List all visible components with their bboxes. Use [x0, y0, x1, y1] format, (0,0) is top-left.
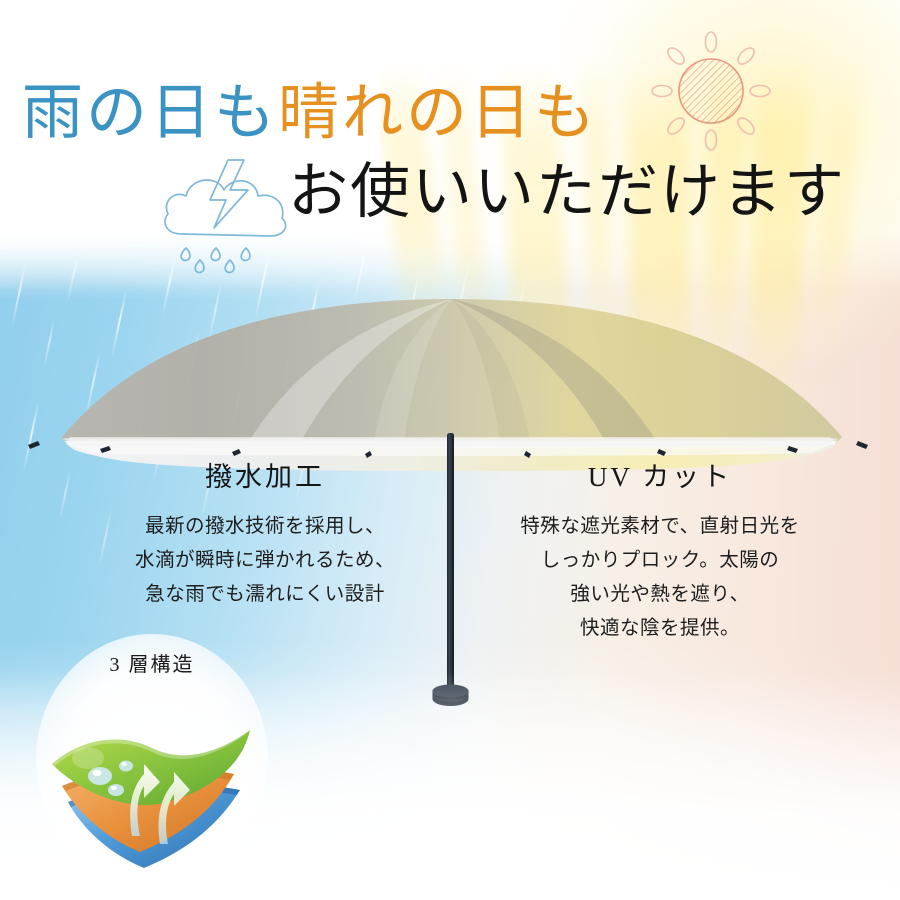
headline-sun-text: 晴れの日も	[278, 80, 598, 147]
feature-body-line: 特殊な遮光素材で、直射日光を	[470, 510, 850, 544]
banner-canvas: 雨の日も晴れの日も お使いいただけます	[0, 0, 900, 900]
headline-rain-text: 雨の日も	[22, 80, 278, 147]
feature-uv-cut: UV カット 特殊な遮光素材で、直射日光を しっかりプロック。太陽の 強い光や熱…	[470, 455, 850, 646]
sun-icon	[646, 28, 776, 158]
three-layer-badge: 3 層構造	[36, 634, 268, 884]
feature-body-line: 最新の撥水技術を採用し、	[80, 510, 450, 544]
feature-body-line: しっかりプロック。太陽の	[470, 544, 850, 578]
rain-drop	[116, 188, 130, 243]
feature-title: 撥水加工	[80, 455, 450, 494]
headline-line-2: お使いいただけます	[288, 143, 846, 230]
rain-cloud-lightning-icon	[152, 142, 302, 277]
feature-body-line: 強い光や熱を遮り、	[470, 578, 850, 612]
headline-line-1: 雨の日も晴れの日も	[22, 62, 598, 151]
feature-title: UV カット	[470, 455, 850, 494]
feature-body: 特殊な遮光素材で、直射日光を しっかりプロック。太陽の 強い光や熱を遮り、 快適…	[470, 510, 850, 646]
feature-water-repellent: 撥水加工 最新の撥水技術を採用し、 水滴が瞬時に弾かれるため、 急な雨でも濡れに…	[80, 455, 450, 612]
feature-body: 最新の撥水技術を採用し、 水滴が瞬時に弾かれるため、 急な雨でも濡れにくい設計	[80, 510, 450, 612]
feature-body-line: 快適な陰を提供。	[470, 612, 850, 646]
rain-drop	[6, 170, 20, 229]
feature-body-line: 水滴が瞬時に弾かれるため、	[80, 544, 450, 578]
feature-body-line: 急な雨でも濡れにくい設計	[80, 578, 450, 612]
badge-label: 3 層構造	[36, 648, 268, 677]
three-layer-fabric-icon	[44, 686, 260, 876]
